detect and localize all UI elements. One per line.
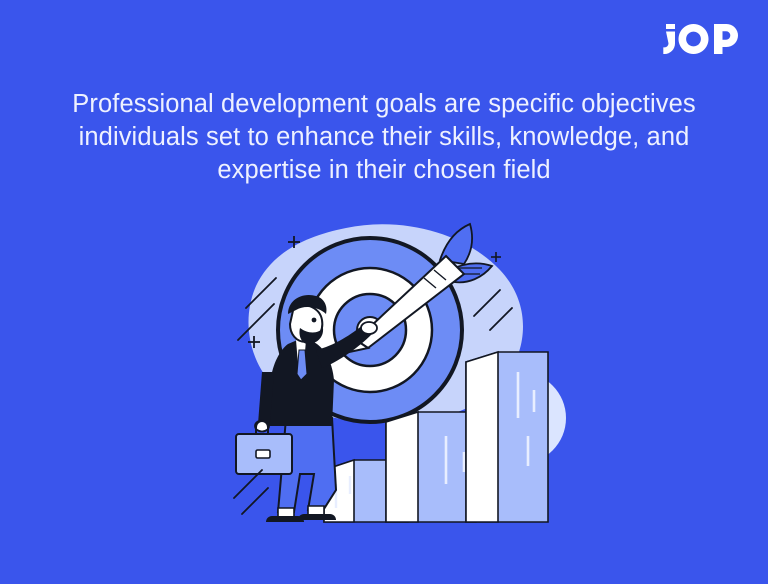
jop-logo-mark [662,22,742,56]
jop-logo[interactable] [662,22,742,56]
headline-line-2: individuals set to enhance their skills,… [50,121,718,154]
bar-2 [386,412,476,522]
sparkle-right [491,252,501,262]
headline-line-1: Professional development goals are speci… [50,88,718,121]
poster-canvas: Professional development goals are speci… [0,0,768,584]
page-title: Professional development goals are speci… [50,88,718,187]
bar-3 [466,352,548,522]
businessman-target-bars-illustration [228,222,588,542]
speed-lines-bottom [234,470,268,514]
headline-line-3: expertise in their chosen field [50,154,718,187]
illustration-svg [228,222,588,542]
